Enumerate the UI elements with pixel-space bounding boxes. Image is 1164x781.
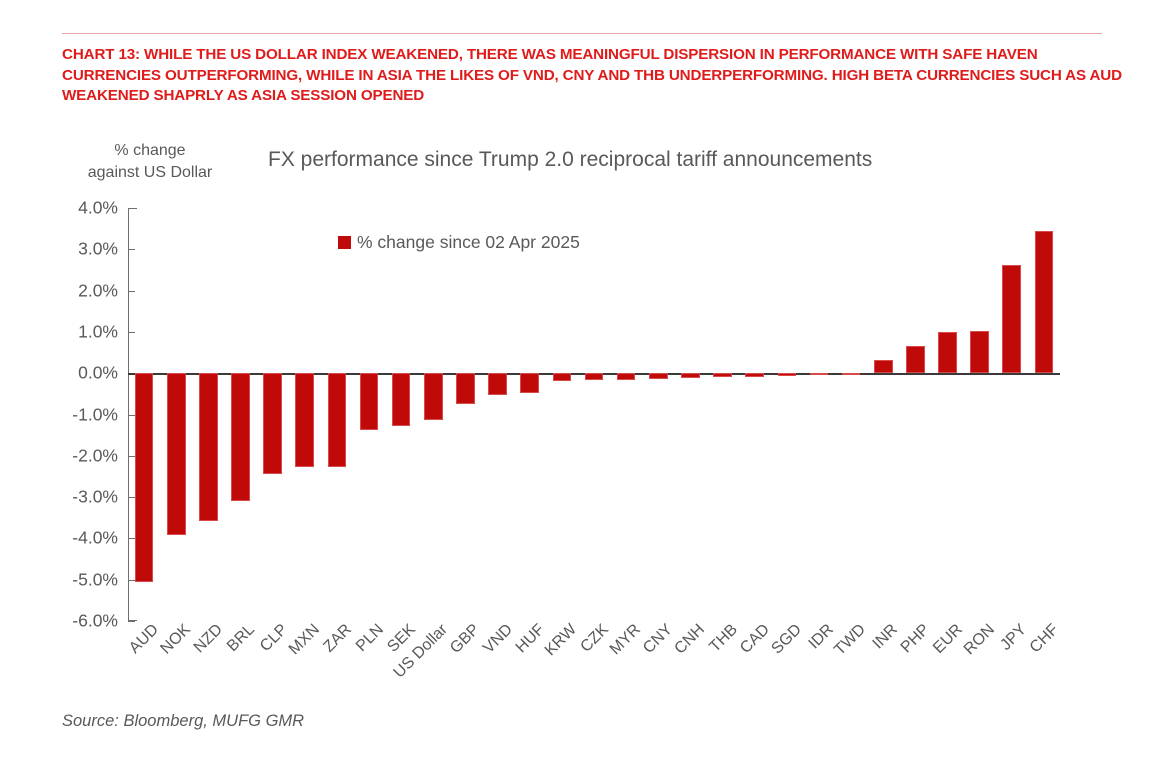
bar (328, 373, 347, 467)
bar (681, 373, 700, 378)
bar (135, 373, 154, 582)
bar (392, 373, 411, 425)
bar (585, 373, 604, 380)
chart-title: FX performance since Trump 2.0 reciproca… (268, 148, 872, 172)
bar (906, 346, 925, 374)
y-axis-tick-label: -4.0% (52, 528, 118, 549)
bar (778, 373, 797, 376)
chart-headline: CHART 13: WHILE THE US DOLLAR INDEX WEAK… (62, 45, 1122, 107)
y-axis-tick-label: 1.0% (52, 321, 118, 342)
y-axis-caption-line1: % change (60, 140, 240, 162)
y-axis-tick-label: -3.0% (52, 487, 118, 508)
bar-series (128, 208, 1060, 621)
y-axis-tick-label: -6.0% (52, 611, 118, 632)
bar (970, 331, 989, 374)
source-note: Source: Bloomberg, MUFG GMR (62, 712, 304, 731)
bar (874, 360, 893, 373)
y-axis-tick-label: 3.0% (52, 239, 118, 260)
bar (295, 373, 314, 467)
bar (231, 373, 250, 501)
y-axis-caption-line2: against US Dollar (60, 162, 240, 184)
bar (263, 373, 282, 473)
x-axis-tick-label-text: AUD (126, 621, 163, 658)
bar (713, 373, 732, 377)
x-axis-labels: AUDNOKNZDBRLCLPMXNZARPLNSEKUS DollarGBPV… (128, 621, 1060, 711)
y-axis-tick-label: -1.0% (52, 404, 118, 425)
bar (167, 373, 186, 535)
bar (520, 373, 539, 393)
y-axis-tick-label: 0.0% (52, 363, 118, 384)
bar (810, 373, 829, 375)
chart-page: CHART 13: WHILE THE US DOLLAR INDEX WEAK… (0, 0, 1164, 781)
bar (649, 373, 668, 379)
y-axis-tick-label: 4.0% (52, 198, 118, 219)
bar (424, 373, 443, 420)
y-axis-tick-label: -5.0% (52, 569, 118, 590)
bar (938, 332, 957, 373)
y-axis-tick-label: -2.0% (52, 445, 118, 466)
bar (1035, 231, 1054, 373)
y-axis-caption: % change against US Dollar (60, 140, 240, 184)
bar (842, 373, 861, 375)
plot-area: 4.0%3.0%2.0%1.0%0.0%-1.0%-2.0%-3.0%-4.0%… (128, 208, 1060, 621)
bar (488, 373, 507, 394)
header-divider (62, 33, 1102, 34)
bar (1002, 265, 1021, 373)
y-axis-labels: 4.0%3.0%2.0%1.0%0.0%-1.0%-2.0%-3.0%-4.0%… (52, 208, 118, 621)
bar (456, 373, 475, 404)
bar (617, 373, 636, 380)
bar (199, 373, 218, 520)
bar (360, 373, 379, 430)
bar (553, 373, 572, 381)
bar (745, 373, 764, 377)
y-axis-tick-label: 2.0% (52, 280, 118, 301)
